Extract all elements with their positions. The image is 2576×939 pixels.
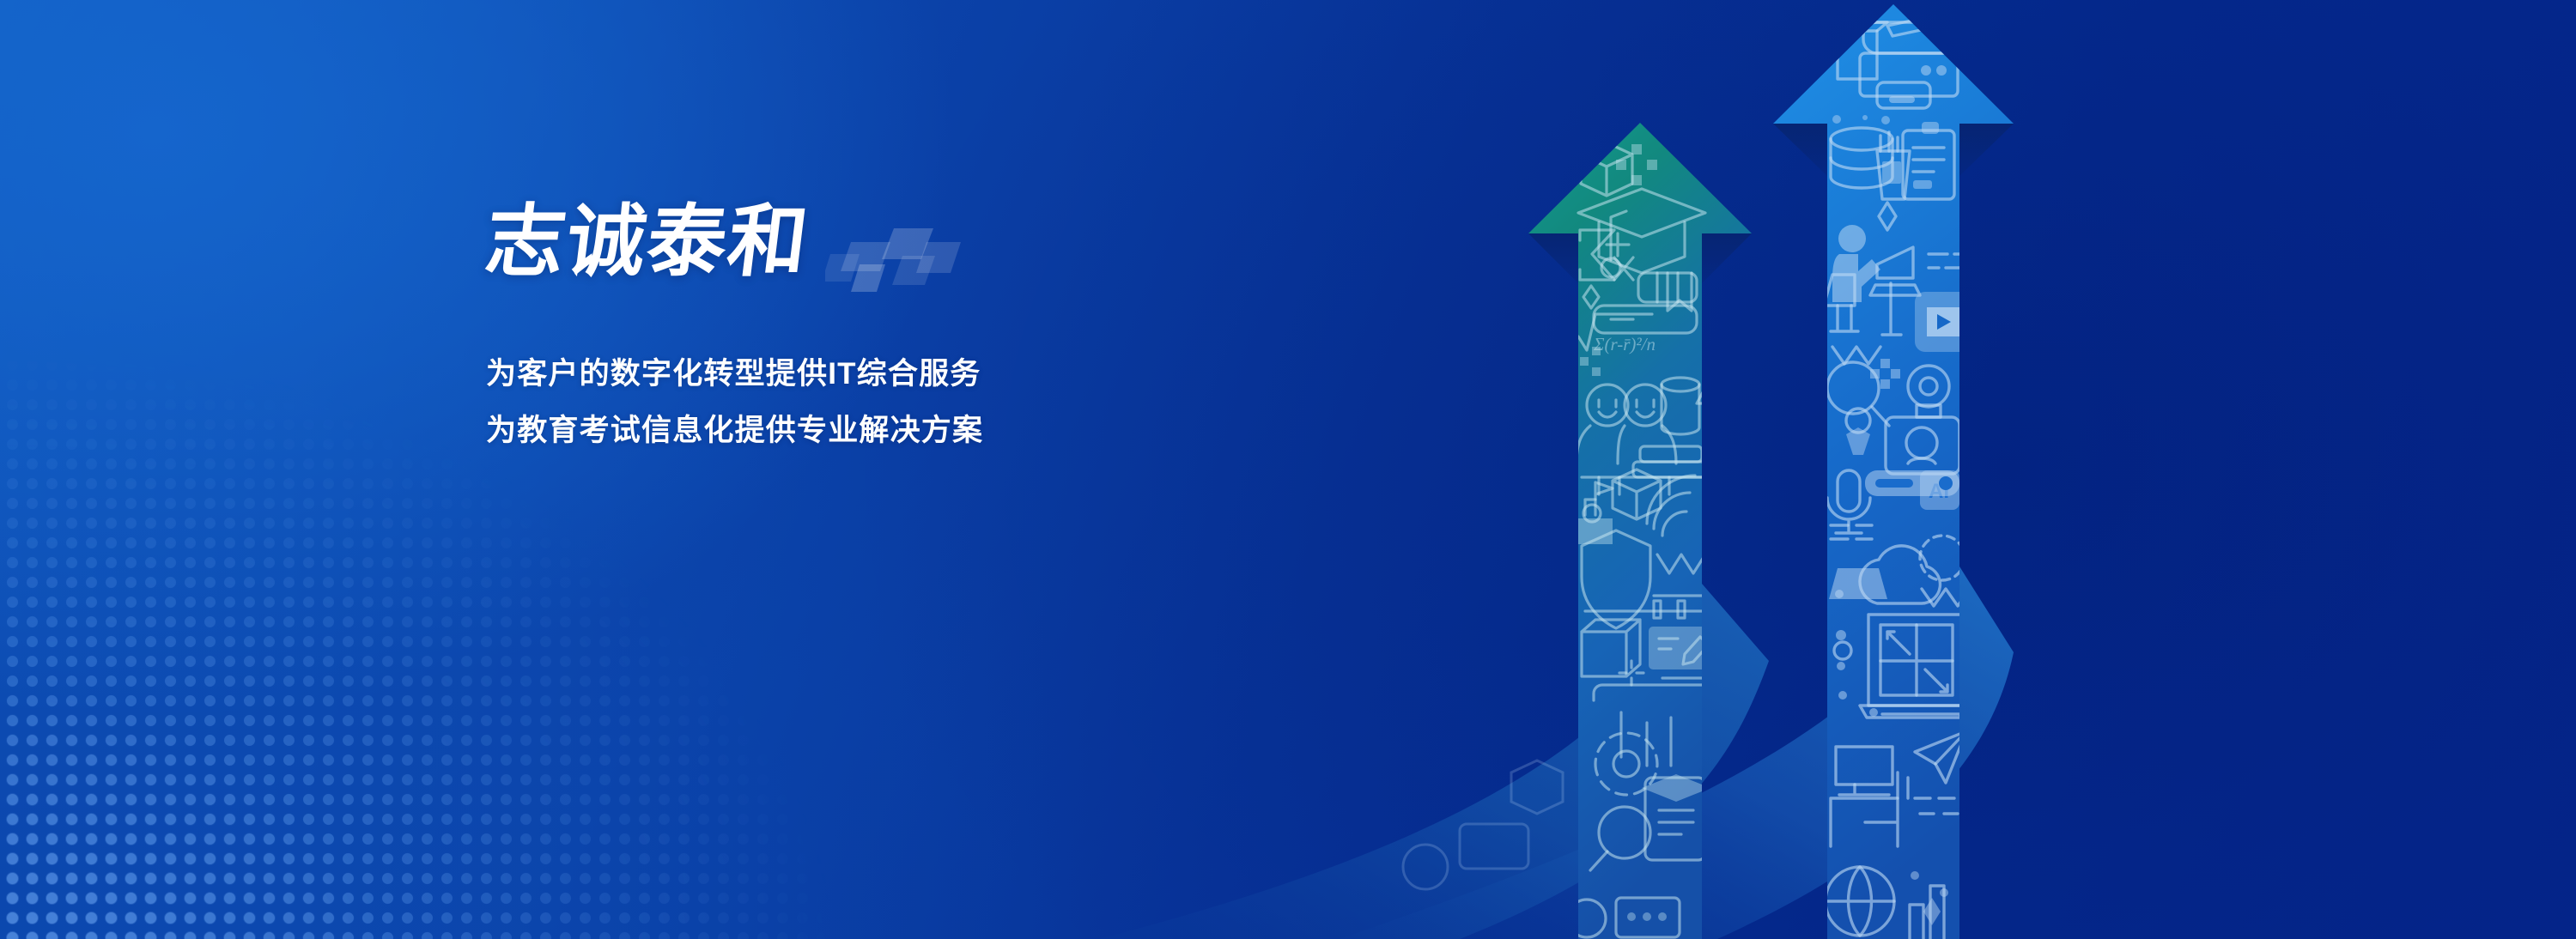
background-vignette [0, 0, 2576, 939]
page-title: 志诚泰和 [481, 201, 814, 284]
hero-copy: 志诚泰和 为客户的数字化转型提供IT综合服务 为教育考试信息化提供专业解决方案 [486, 201, 1139, 445]
tagline-line-2: 为教育考试信息化提供专业解决方案 [486, 415, 1139, 445]
parallelogram-logo-mark [825, 216, 980, 294]
hero-banner: Σ(r-r̄)²/n [0, 0, 2576, 939]
brand-row: 志诚泰和 [486, 201, 1139, 304]
tagline-line-1: 为客户的数字化转型提供IT综合服务 [486, 359, 1139, 389]
